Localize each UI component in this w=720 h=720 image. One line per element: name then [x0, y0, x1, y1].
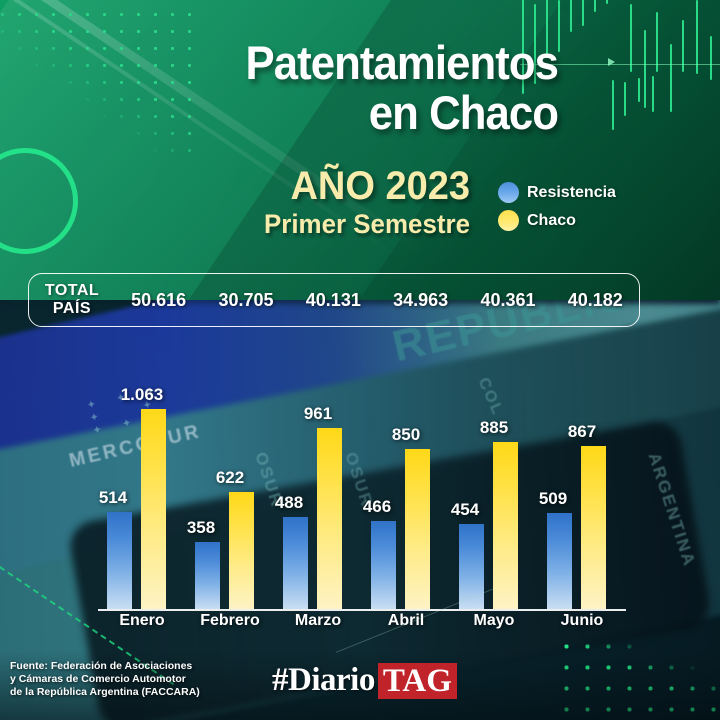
- x-axis-label: Abril: [362, 612, 450, 630]
- x-axis-label: Junio: [538, 612, 626, 630]
- bar-value-label: 488: [260, 493, 318, 513]
- bar-chaco: [493, 442, 518, 609]
- x-axis-label: Mayo: [450, 612, 538, 630]
- logo-text-tag: TAG: [378, 663, 457, 699]
- bar-chaco: [229, 492, 254, 609]
- source-line-1: Fuente: Federación de Asociaciones: [10, 660, 200, 673]
- source-credit: Fuente: Federación de Asociaciones y Cám…: [10, 660, 200, 699]
- bar-value-label: 622: [201, 468, 259, 488]
- bar-resistencia: [195, 542, 220, 609]
- bar-value-label: 867: [553, 422, 611, 442]
- bar-value-label: 961: [289, 404, 347, 424]
- brand-logo[interactable]: #Diario TAG: [272, 662, 457, 699]
- source-line-3: de la República Argentina (FACCARA): [10, 686, 200, 699]
- bar-resistencia: [283, 517, 308, 609]
- bar-value-label: 885: [465, 418, 523, 438]
- bar-value-label: 514: [84, 488, 142, 508]
- bar-chaco: [581, 446, 606, 609]
- bar-chaco: [405, 449, 430, 609]
- bar-resistencia: [547, 513, 572, 609]
- bar-value-label: 850: [377, 425, 435, 445]
- source-line-2: y Cámaras de Comercio Automotor: [10, 673, 200, 686]
- bar-value-label: 509: [524, 489, 582, 509]
- bar-value-label: 1.063: [113, 385, 171, 405]
- infographic-canvas: REPÚBLICA AR MERCOSUR OSUR OSUR ARGENTIN…: [0, 0, 720, 720]
- bar-value-label: 466: [348, 497, 406, 517]
- x-axis-label: Febrero: [186, 612, 274, 630]
- logo-text-diario: #Diario: [272, 662, 375, 699]
- bar-value-label: 454: [436, 500, 494, 520]
- bar-chaco: [317, 428, 342, 609]
- bar-resistencia: [371, 521, 396, 609]
- x-axis-label: Marzo: [274, 612, 362, 630]
- bar-value-label: 358: [172, 518, 230, 538]
